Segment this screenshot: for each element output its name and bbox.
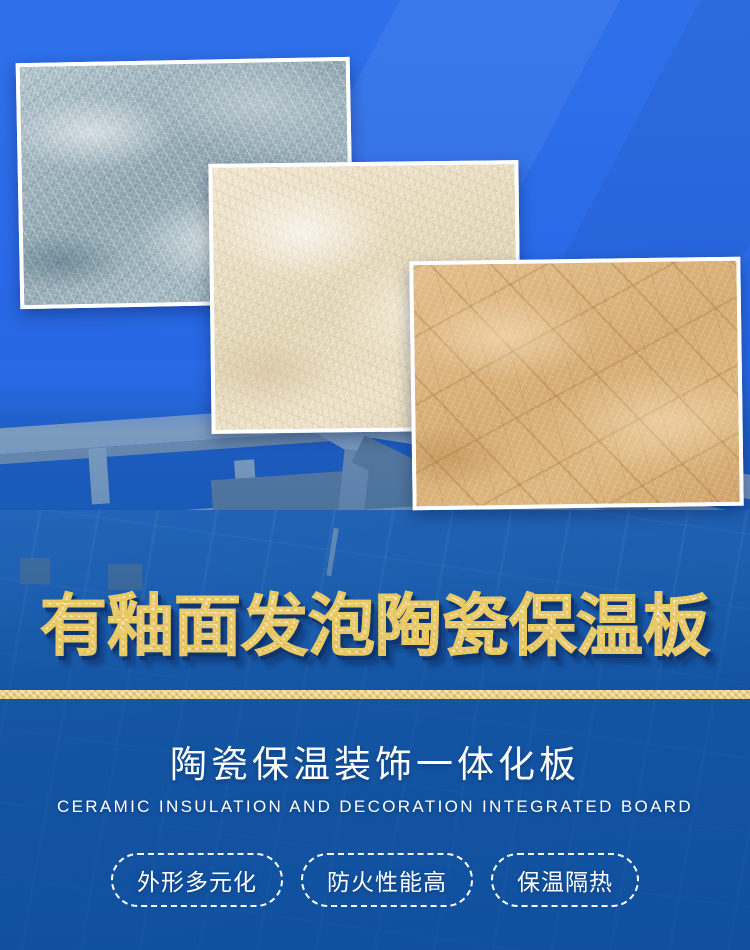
- tan-marble-texture: [413, 261, 739, 506]
- feature-pill-shape-diversity[interactable]: 外形多元化: [111, 853, 283, 907]
- subtitle-chinese: 陶瓷保温装饰一体化板: [0, 742, 750, 788]
- headline-title: 有釉面发泡陶瓷保温板: [0, 584, 750, 668]
- product-promo-banner: 有釉面发泡陶瓷保温板 陶瓷保温装饰一体化板 CERAMIC INSULATION…: [0, 0, 750, 950]
- feature-pill-group: 外形多元化 防火性能高 保温隔热: [0, 853, 750, 907]
- feature-pill-fire-resistance[interactable]: 防火性能高: [301, 853, 473, 907]
- gold-divider: [0, 690, 750, 699]
- tan-marble-tile: [409, 257, 743, 511]
- feature-pill-thermal-insulation[interactable]: 保温隔热: [491, 853, 639, 907]
- subtitle-english: CERAMIC INSULATION AND DECORATION INTEGR…: [0, 796, 750, 818]
